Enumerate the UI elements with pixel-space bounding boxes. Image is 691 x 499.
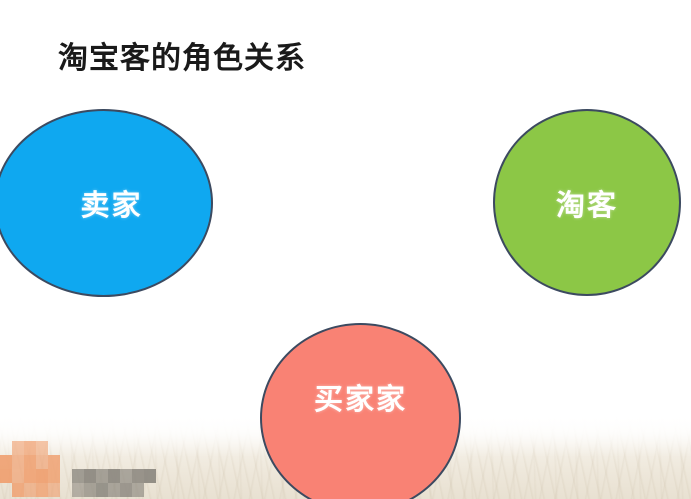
mosaic-block: [0, 441, 12, 455]
mosaic-block: [96, 455, 108, 469]
mosaic-block: [60, 483, 72, 497]
mosaic-block: [108, 441, 120, 455]
mosaic-block: [96, 441, 108, 455]
mosaic-block: [60, 469, 72, 483]
mosaic-block: [24, 469, 36, 483]
page-title: 淘宝客的角色关系: [58, 33, 306, 77]
mosaic-block: [96, 483, 108, 497]
mosaic-block: [36, 441, 48, 455]
role-node-buyer[interactable]: 买家家: [260, 323, 461, 499]
mosaic-block: [60, 455, 72, 469]
role-node-promoter[interactable]: 淘客: [493, 109, 681, 296]
mosaic-block: [144, 441, 156, 455]
mosaic-block: [0, 455, 12, 469]
mosaic-block: [36, 469, 48, 483]
mosaic-block: [84, 483, 96, 497]
mosaic-block: [72, 441, 84, 455]
mosaic-block: [108, 455, 120, 469]
mosaic-block: [144, 469, 156, 483]
mosaic-block: [84, 441, 96, 455]
mosaic-block: [72, 483, 84, 497]
role-node-buyer-label: 买家家: [314, 376, 407, 418]
mosaic-block: [120, 455, 132, 469]
mosaic-block: [120, 469, 132, 483]
mosaic-block: [36, 483, 48, 497]
mosaic-block: [24, 455, 36, 469]
mosaic-block: [132, 483, 144, 497]
mosaic-block: [12, 455, 24, 469]
mosaic-block: [132, 469, 144, 483]
pixelated-watermark: [0, 441, 156, 499]
mosaic-block: [12, 483, 24, 497]
mosaic-block: [48, 483, 60, 497]
mosaic-block: [120, 483, 132, 497]
mosaic-block: [12, 469, 24, 483]
role-node-promoter-label: 淘客: [556, 182, 618, 224]
mosaic-block: [144, 455, 156, 469]
mosaic-block: [48, 441, 60, 455]
mosaic-block: [24, 441, 36, 455]
mosaic-block: [0, 483, 12, 497]
mosaic-block: [48, 455, 60, 469]
mosaic-block: [132, 455, 144, 469]
role-node-seller[interactable]: 卖家: [0, 109, 213, 297]
mosaic-block: [144, 483, 156, 497]
slide-canvas: 淘宝客的角色关系 卖家 淘客 买家家: [0, 0, 691, 499]
mosaic-block: [48, 469, 60, 483]
mosaic-block: [12, 441, 24, 455]
mosaic-block: [84, 455, 96, 469]
mosaic-block: [84, 469, 96, 483]
mosaic-block: [108, 483, 120, 497]
mosaic-block: [72, 469, 84, 483]
role-node-seller-label: 卖家: [80, 182, 142, 224]
mosaic-block: [120, 441, 132, 455]
mosaic-block: [60, 441, 72, 455]
mosaic-block: [72, 455, 84, 469]
mosaic-block: [96, 469, 108, 483]
mosaic-block: [0, 469, 12, 483]
mosaic-block: [108, 469, 120, 483]
mosaic-block: [36, 455, 48, 469]
mosaic-block: [24, 483, 36, 497]
mosaic-block: [132, 441, 144, 455]
